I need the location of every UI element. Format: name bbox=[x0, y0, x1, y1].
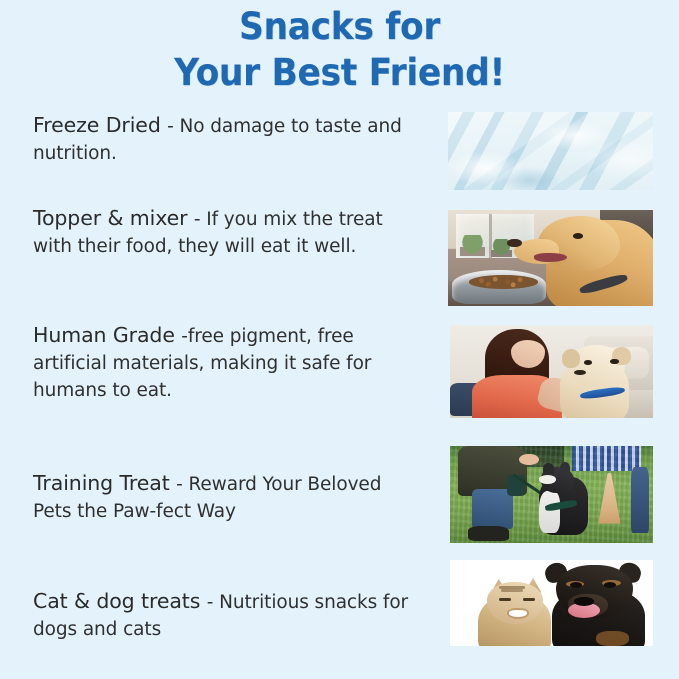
feature-lead-training-treat: Training Treat bbox=[33, 471, 176, 495]
feature-text-topper-mixer: Topper & mixer - If you mix the treat wi… bbox=[0, 205, 420, 260]
training-scene-art bbox=[450, 446, 653, 543]
training-dog-chest bbox=[539, 491, 559, 534]
puppy-eye-right bbox=[610, 359, 618, 364]
woman-puppy-scene-art bbox=[450, 325, 653, 418]
training-dog-ear-right bbox=[560, 462, 570, 473]
feature-lead-topper-mixer: Topper & mixer bbox=[33, 206, 194, 230]
feature-image-woman-feeding-puppy bbox=[450, 325, 653, 418]
feature-text-cat-dog-treats: Cat & dog treats - Nutritious snacks for… bbox=[0, 588, 420, 643]
page-title: Snacks for Your Best Friend! bbox=[0, 0, 679, 96]
feature-text-freeze-dried: Freeze Dried - No damage to taste and nu… bbox=[0, 112, 420, 167]
feature-image-cat-and-dog bbox=[450, 560, 653, 646]
feature-text-training-treat: Training Treat - Reward Your Beloved Pet… bbox=[0, 470, 420, 525]
feature-image-frozen-ice-texture bbox=[448, 112, 653, 190]
training-dog-ear-left bbox=[543, 463, 553, 474]
feature-image-dog-training-outdoors bbox=[450, 446, 653, 543]
title-line-1: Snacks for bbox=[24, 4, 655, 50]
cat-eye-left bbox=[499, 598, 511, 601]
dark-dog-tan-chest bbox=[596, 631, 628, 646]
cat-eye-right bbox=[523, 598, 535, 601]
feature-lead-human-grade: Human Grade bbox=[33, 323, 181, 347]
cat-forehead-stripe-2 bbox=[501, 589, 523, 592]
feature-image-golden-retriever-with-food-bowl bbox=[448, 210, 653, 306]
ice-texture-art bbox=[448, 112, 653, 190]
trainer-boot bbox=[468, 526, 509, 542]
kibble-pile bbox=[469, 275, 539, 288]
title-line-2: Your Best Friend! bbox=[24, 50, 655, 96]
trainer-jeans bbox=[472, 489, 513, 530]
potted-plant bbox=[460, 235, 485, 256]
product-feature-infographic: Snacks for Your Best Friend! Freeze Drie… bbox=[0, 0, 679, 679]
retriever-mouth bbox=[534, 253, 567, 262]
dark-dog-nose bbox=[574, 597, 594, 606]
dark-dog-eye-right bbox=[604, 582, 616, 588]
puppy-nose bbox=[574, 370, 586, 376]
retriever-scene-art bbox=[448, 210, 653, 306]
retriever-eye bbox=[573, 233, 583, 239]
puppy-ear-left bbox=[562, 349, 580, 368]
bystander-leg bbox=[631, 467, 649, 533]
feature-list: Freeze Dried - No damage to taste and nu… bbox=[0, 106, 679, 666]
puppy-eye-left bbox=[584, 360, 592, 365]
feature-lead-freeze-dried: Freeze Dried bbox=[33, 113, 167, 137]
feature-lead-cat-dog-treats: Cat & dog treats bbox=[33, 589, 207, 613]
training-dog-snout bbox=[539, 475, 555, 484]
feature-text-human-grade: Human Grade -free pigment, free artifici… bbox=[0, 322, 420, 404]
cat-dog-scene-art bbox=[450, 560, 653, 646]
